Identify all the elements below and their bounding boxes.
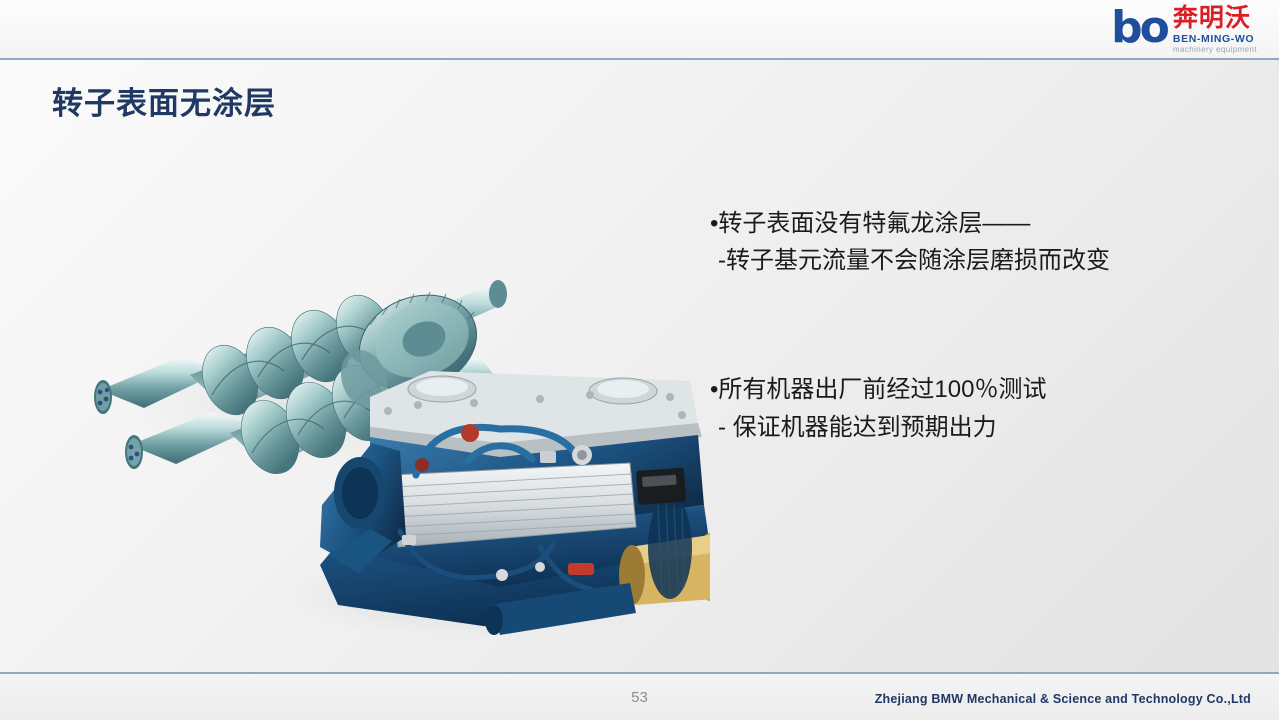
bullet-line: •转子表面没有特氟龙涂层——	[710, 205, 1255, 242]
header-divider	[0, 58, 1279, 60]
bullet-block-1: •转子表面没有特氟龙涂层—— -转子基元流量不会随涂层磨损而改变	[710, 205, 1255, 279]
bullet-line: •所有机器出厂前经过100％测试	[710, 371, 1255, 408]
logo-chinese-name: 奔明沃	[1173, 6, 1257, 31]
bullet-block-2: •所有机器出厂前经过100％测试 - 保证机器能达到预期出力	[710, 371, 1255, 445]
content-text: •转子表面没有特氟龙涂层—— -转子基元流量不会随涂层磨损而改变 •所有机器出厂…	[710, 205, 1255, 446]
logo-english-name: BEN-MING-WO	[1173, 34, 1257, 45]
footer-company-name: Zhejiang BMW Mechanical & Science and Te…	[875, 692, 1251, 706]
page-title: 转子表面无涂层	[52, 78, 276, 123]
logo-tagline: machinery equipment	[1173, 46, 1257, 54]
bullet-line: -转子基元流量不会随涂层磨损而改变	[710, 242, 1255, 279]
screw-compressor-unit-image	[320, 371, 710, 635]
company-logo: bo 奔明沃 BEN-MING-WO machinery equipment	[1065, 4, 1257, 56]
bullet-line: - 保证机器能达到预期出力	[710, 409, 1255, 446]
logo-text: 奔明沃 BEN-MING-WO machinery equipment	[1173, 6, 1257, 55]
artwork-container	[70, 175, 710, 635]
logo-mark-icon: bo	[1111, 6, 1167, 50]
slide: bo 奔明沃 BEN-MING-WO machinery equipment 转…	[0, 0, 1279, 720]
